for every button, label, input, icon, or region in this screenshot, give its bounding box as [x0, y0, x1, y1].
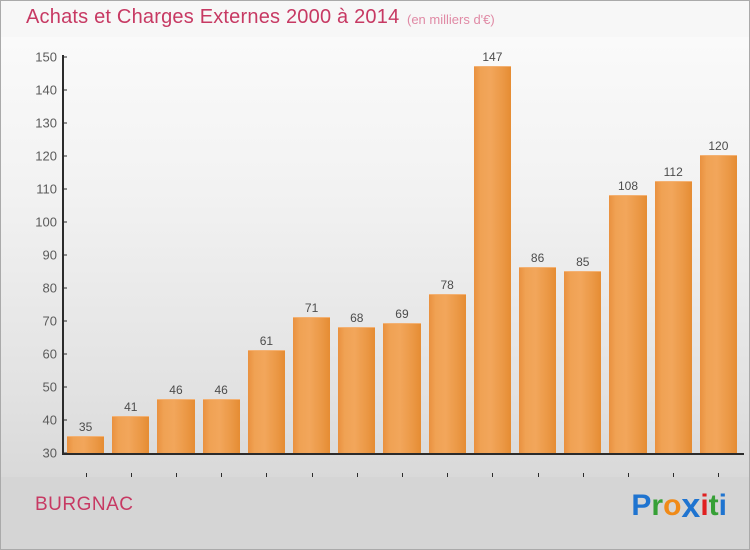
logo-letter: P	[631, 487, 651, 525]
y-axis-tick-mark	[62, 222, 67, 223]
x-axis-line	[62, 453, 744, 455]
bar-group[interactable]: 712005	[289, 57, 334, 453]
y-axis-tick-mark	[62, 387, 67, 388]
logo-letter: r	[651, 487, 663, 525]
bar-group[interactable]: 862010	[515, 57, 560, 453]
y-axis-tick-mark	[62, 453, 67, 454]
bar-value-label: 61	[244, 334, 289, 348]
bar-group[interactable]: 462002	[153, 57, 198, 453]
bar[interactable]	[67, 436, 104, 454]
logo-letter: o	[663, 487, 681, 525]
bar-group[interactable]: 1122013	[651, 57, 696, 453]
bar[interactable]	[338, 327, 375, 453]
bar-group[interactable]: 612004	[244, 57, 289, 453]
bar-value-label: 35	[63, 420, 108, 434]
city-label: BURGNAC	[35, 494, 134, 516]
y-axis-tick-mark	[62, 255, 67, 256]
bar[interactable]	[474, 66, 511, 453]
bar[interactable]	[655, 181, 692, 453]
bar-value-label: 108	[605, 179, 650, 193]
bar-value-label: 78	[425, 278, 470, 292]
bar-group[interactable]: 852011	[560, 57, 605, 453]
bar[interactable]	[609, 195, 646, 453]
logo-letter: t	[709, 487, 719, 525]
bar-value-label: 46	[199, 383, 244, 397]
bar-value-label: 86	[515, 251, 560, 265]
bar-group[interactable]: 1202014	[696, 57, 741, 453]
bar[interactable]	[157, 399, 194, 453]
bar-value-label: 120	[696, 139, 741, 153]
bar[interactable]	[429, 294, 466, 453]
bar-group[interactable]: 782008	[425, 57, 470, 453]
bar-group[interactable]: 1082012	[605, 57, 650, 453]
chart-plot-area: 3520004120014620024620036120047120056820…	[1, 37, 749, 477]
bars-container: 3520004120014620024620036120047120056820…	[63, 57, 741, 453]
y-axis-tick-mark	[62, 156, 67, 157]
y-axis-tick-label: 140	[19, 83, 57, 98]
bar-group[interactable]: 462003	[199, 57, 244, 453]
logo-letter: i	[719, 487, 727, 525]
chart-page: Achats et Charges Externes 2000 à 2014 (…	[0, 0, 750, 550]
bar-group[interactable]: 1472009	[470, 57, 515, 453]
bar-value-label: 41	[108, 400, 153, 414]
bar[interactable]	[383, 323, 420, 453]
y-axis-tick-label: 60	[19, 347, 57, 362]
y-axis-tick-label: 80	[19, 281, 57, 296]
bar-value-label: 112	[651, 165, 696, 179]
bar-group[interactable]: 412001	[108, 57, 153, 453]
bar[interactable]	[700, 155, 737, 453]
y-axis-tick-label: 120	[19, 149, 57, 164]
y-axis-tick-label: 130	[19, 116, 57, 131]
bar-group[interactable]: 692007	[379, 57, 424, 453]
y-axis-tick-label: 90	[19, 248, 57, 263]
y-axis-tick-mark	[62, 420, 67, 421]
bar[interactable]	[112, 416, 149, 453]
y-axis-tick-mark	[62, 288, 67, 289]
chart-footer: BURGNAC Proxiti	[1, 477, 749, 549]
y-axis-tick-label: 100	[19, 215, 57, 230]
bar-value-label: 147	[470, 50, 515, 64]
bar[interactable]	[203, 399, 240, 453]
y-axis-tick-label: 40	[19, 413, 57, 428]
bar-value-label: 69	[379, 307, 424, 321]
bar-value-label: 71	[289, 301, 334, 315]
page-subtitle: (en milliers d'€)	[407, 12, 495, 27]
y-axis-tick-mark	[62, 123, 67, 124]
y-axis-tick-mark	[62, 57, 67, 58]
y-axis-tick-mark	[62, 189, 67, 190]
page-title: Achats et Charges Externes 2000 à 2014	[26, 6, 399, 29]
y-axis-tick-mark	[62, 321, 67, 322]
bar-value-label: 46	[153, 383, 198, 397]
y-axis-tick-label: 150	[19, 50, 57, 65]
bar[interactable]	[248, 350, 285, 453]
bar-value-label: 85	[560, 255, 605, 269]
bar[interactable]	[519, 267, 556, 453]
y-axis-tick-label: 70	[19, 314, 57, 329]
bar-group[interactable]: 352000	[63, 57, 108, 453]
bar-value-label: 68	[334, 311, 379, 325]
y-axis-tick-mark	[62, 90, 67, 91]
bar-group[interactable]: 682006	[334, 57, 379, 453]
y-axis-tick-label: 30	[19, 446, 57, 461]
y-axis-tick-label: 50	[19, 380, 57, 395]
y-axis-tick-mark	[62, 354, 67, 355]
y-axis-tick-label: 110	[19, 182, 57, 197]
proxiti-logo[interactable]: Proxiti	[631, 485, 727, 525]
bar[interactable]	[564, 271, 601, 454]
chart-header: Achats et Charges Externes 2000 à 2014 (…	[1, 1, 749, 37]
logo-letter: x	[681, 487, 700, 525]
logo-letter: i	[700, 487, 708, 525]
bar[interactable]	[293, 317, 330, 453]
